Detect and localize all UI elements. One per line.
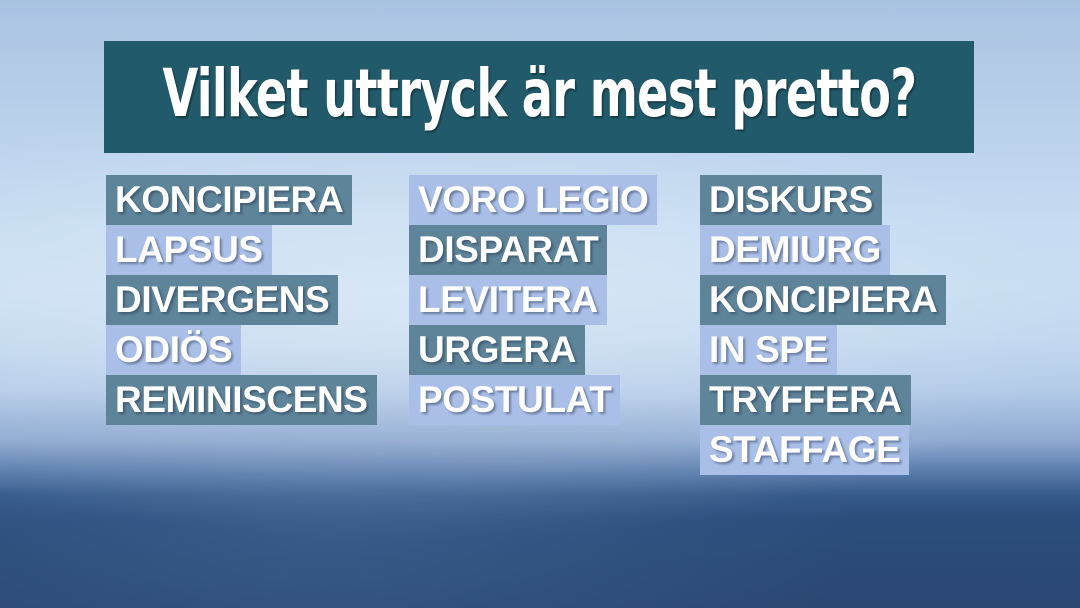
option-item[interactable]: DISPARAT [409,225,607,275]
option-item[interactable]: LEVITERA [409,275,607,325]
option-column-1: KONCIPIERALAPSUSDIVERGENSODIÖSREMINISCEN… [106,175,377,425]
option-item[interactable]: DIVERGENS [106,275,338,325]
option-item[interactable]: DEMIURG [700,225,890,275]
option-item[interactable]: IN SPE [700,325,837,375]
option-item[interactable]: LAPSUS [106,225,272,275]
option-column-2: VORO LEGIODISPARATLEVITERAURGERAPOSTULAT [409,175,657,425]
quiz-slide: Vilket uttryck är mest pretto? KONCIPIER… [0,0,1080,608]
option-item[interactable]: URGERA [409,325,585,375]
option-item[interactable]: VORO LEGIO [409,175,657,225]
option-item[interactable]: DISKURS [700,175,882,225]
option-column-3: DISKURSDEMIURGKONCIPIERAIN SPETRYFFERAST… [700,175,946,475]
option-item[interactable]: TRYFFERA [700,375,911,425]
option-item[interactable]: KONCIPIERA [106,175,352,225]
option-item[interactable]: POSTULAT [409,375,620,425]
option-item[interactable]: KONCIPIERA [700,275,946,325]
option-item[interactable]: STAFFAGE [700,425,909,475]
option-item[interactable]: REMINISCENS [106,375,377,425]
option-item[interactable]: ODIÖS [106,325,241,375]
options-grid: KONCIPIERALAPSUSDIVERGENSODIÖSREMINISCEN… [0,0,1080,608]
